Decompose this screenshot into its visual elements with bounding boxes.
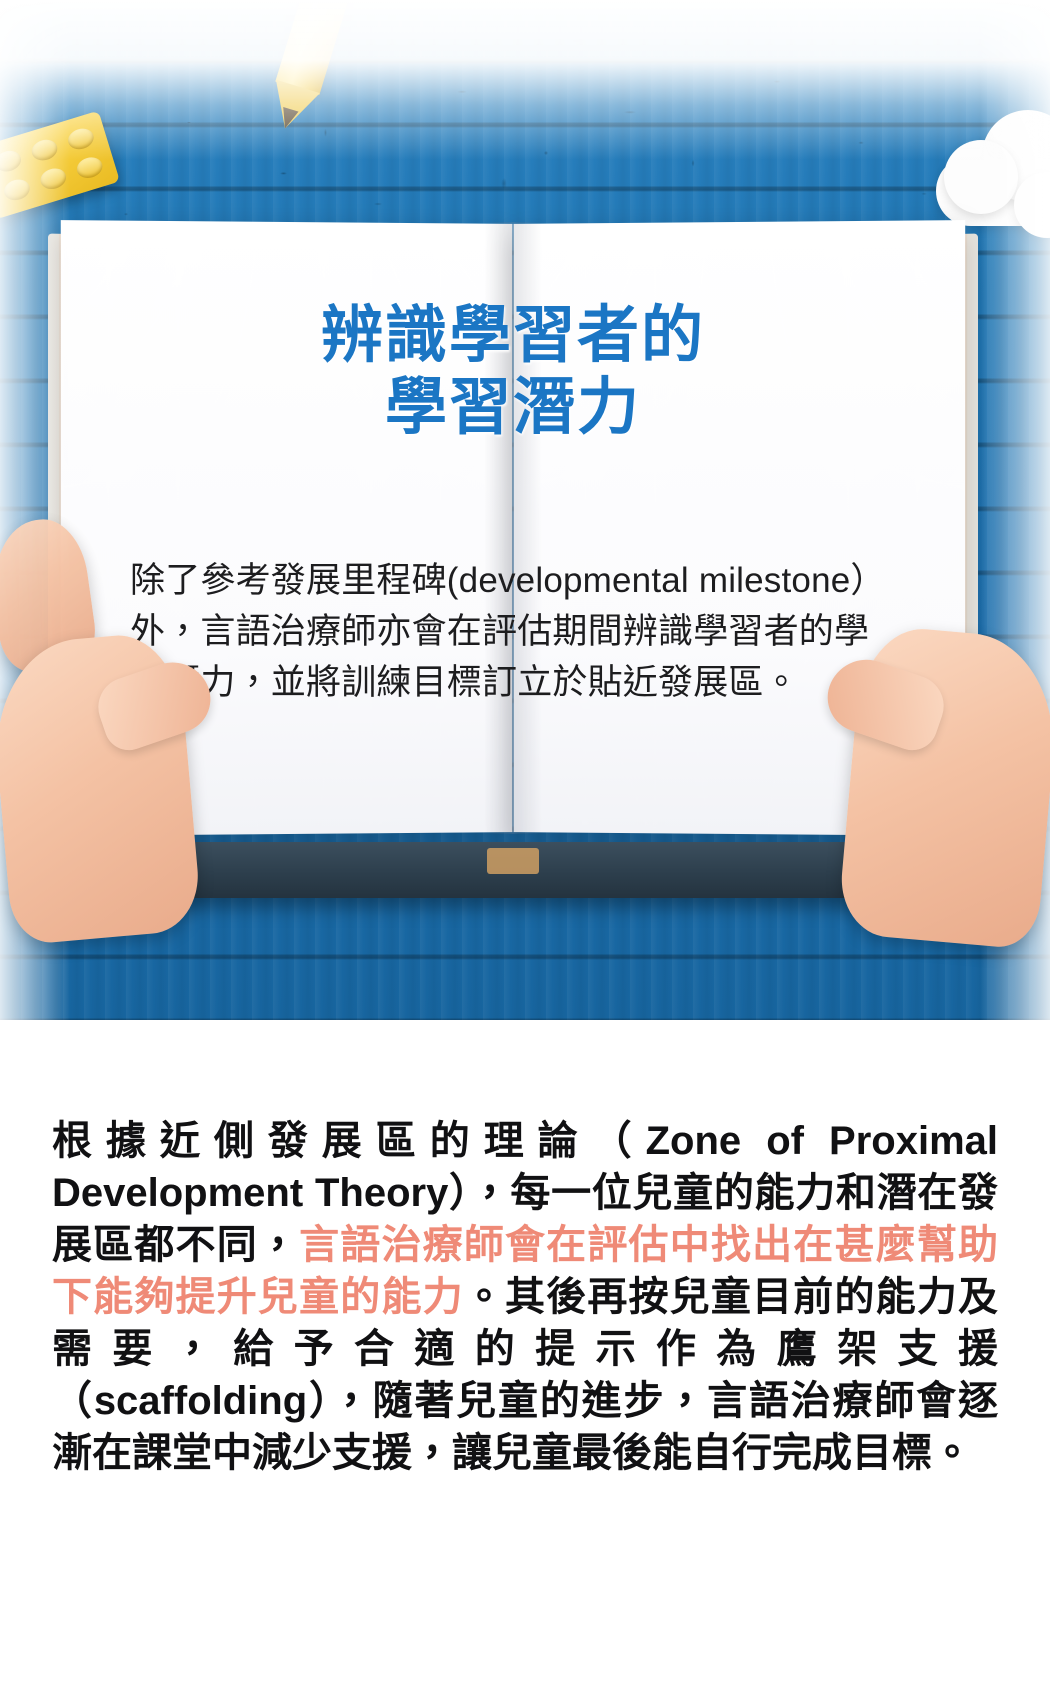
page-title-line-1: 辨識學習者的	[48, 300, 978, 372]
hero-photo: 辨識學習者的 學習潛力 除了參考發展里程碑(developmental mile…	[0, 0, 1050, 1020]
bottom-text-section: 根據近側發展區的理論（Zone of Proximal Development …	[0, 1020, 1050, 1702]
page-title: 辨識學習者的 學習潛力	[48, 300, 978, 444]
page-title-line-2: 學習潛力	[48, 372, 978, 444]
book-spine	[74, 842, 952, 898]
hand-left	[0, 630, 203, 945]
body-paragraph: 根據近側發展區的理論（Zone of Proximal Development …	[52, 1115, 998, 1479]
hand-right	[837, 624, 1050, 950]
book-body-text: 除了參考發展里程碑(developmental milestone）外，言語治療…	[130, 555, 902, 708]
book-spine-notch	[487, 848, 539, 874]
